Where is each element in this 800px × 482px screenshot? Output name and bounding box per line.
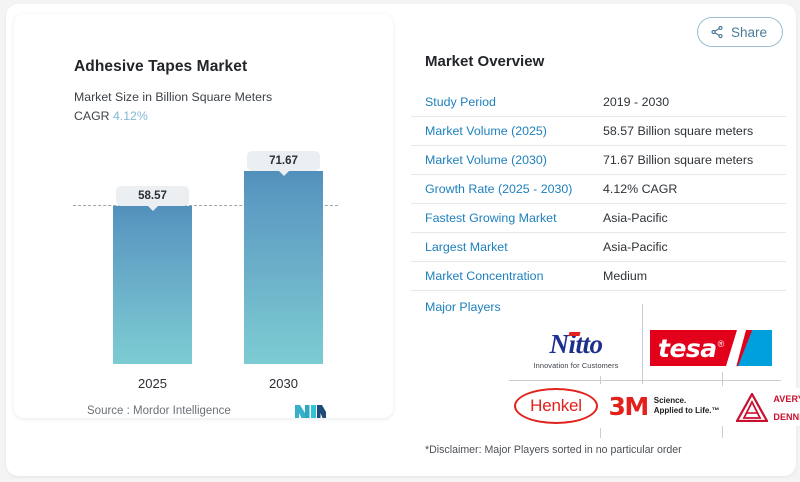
row-key: Market Concentration [425, 269, 603, 283]
3m-wordmark: 3M [608, 394, 647, 419]
3m-tagline: Science.Applied to Life.™ [654, 396, 720, 416]
row-value: 71.67 Billion square meters [603, 153, 753, 167]
avery-wordmark: AVERY DENNISON [773, 389, 800, 425]
bar-2025[interactable] [113, 206, 192, 364]
table-row: Study Period 2019 - 2030 [411, 88, 786, 117]
logo-grid-divider-vertical [642, 304, 643, 384]
tesa-badge: tesa ® [650, 330, 772, 366]
share-button[interactable]: Share [697, 17, 783, 47]
tesa-registered-mark: ® [718, 339, 725, 349]
avery-triangle-icon [736, 393, 768, 422]
table-row: Market Volume (2025) 58.57 Billion squar… [411, 117, 786, 146]
table-row: Market Concentration Medium [411, 262, 786, 291]
bar-chart-plot: 58.57 71.67 2025 2030 [14, 14, 393, 418]
nitto-accent-mark [569, 332, 581, 336]
row-key: Fastest Growing Market [425, 211, 603, 225]
avery-line-2: DENNISON [773, 412, 800, 422]
henkel-oval: Henkel [514, 388, 598, 424]
row-value: 58.57 Billion square meters [603, 124, 753, 138]
overview-table: Study Period 2019 - 2030 Market Volume (… [411, 88, 786, 320]
mordor-intelligence-logo [295, 403, 326, 419]
overview-title: Market Overview [425, 53, 786, 70]
x-tick-2030: 2030 [244, 376, 323, 391]
value-badge-2025: 58.57 [116, 186, 189, 206]
table-row: Growth Rate (2025 - 2030) 4.12% CAGR [411, 175, 786, 204]
source-label: Source : [87, 405, 130, 417]
value-badge-2030: 71.67 [247, 151, 320, 171]
avery-line-1: AVERY [773, 394, 800, 404]
row-key: Study Period [425, 95, 603, 109]
row-key: Largest Market [425, 240, 603, 254]
nitto-tagline: Innovation for Customers [534, 361, 619, 370]
logo-nitto: Nitto Innovation for Customers [513, 324, 639, 376]
share-network-icon [710, 25, 724, 39]
logo-avery-dennison: AVERY DENNISON [725, 388, 800, 426]
logo-tesa: tesa ® [648, 328, 774, 368]
table-row: Fastest Growing Market Asia-Pacific [411, 204, 786, 233]
row-value: 2019 - 2030 [603, 95, 669, 109]
major-players-logos: Nitto Innovation for Customers tesa ® He… [509, 320, 781, 438]
logo-3m: 3M Science.Applied to Life.™ [605, 386, 723, 426]
major-players-row: Major Players [411, 294, 786, 320]
row-value: Asia-Pacific [603, 211, 668, 225]
nitto-wordmark: Nitto [549, 331, 602, 358]
row-value: 4.12% CAGR [603, 182, 677, 196]
row-value: Medium [603, 269, 647, 283]
row-key: Market Volume (2025) [425, 124, 603, 138]
source-name: Mordor Intelligence [133, 405, 231, 417]
chart-card: Adhesive Tapes Market Market Size in Bil… [14, 14, 393, 418]
table-row: Market Volume (2030) 71.67 Billion squar… [411, 146, 786, 175]
row-value: Asia-Pacific [603, 240, 668, 254]
bar-2030[interactable] [244, 171, 323, 364]
row-key: Growth Rate (2025 - 2030) [425, 182, 603, 196]
market-overview-panel: Market Overview Study Period 2019 - 2030… [411, 14, 786, 438]
logo-grid-divider-horizontal [509, 380, 781, 381]
page-root: Share Adhesive Tapes Market Market Size … [0, 0, 800, 482]
tesa-wordmark: tesa [658, 334, 717, 363]
chart-source: Source : Mordor Intelligence [87, 405, 231, 417]
share-button-label: Share [731, 25, 767, 40]
table-row: Largest Market Asia-Pacific [411, 233, 786, 262]
logo-henkel: Henkel [511, 384, 601, 428]
major-players-label: Major Players [425, 300, 603, 314]
row-key: Market Volume (2030) [425, 153, 603, 167]
disclaimer-text: *Disclaimer: Major Players sorted in no … [425, 444, 682, 456]
x-tick-2025: 2025 [113, 376, 192, 391]
